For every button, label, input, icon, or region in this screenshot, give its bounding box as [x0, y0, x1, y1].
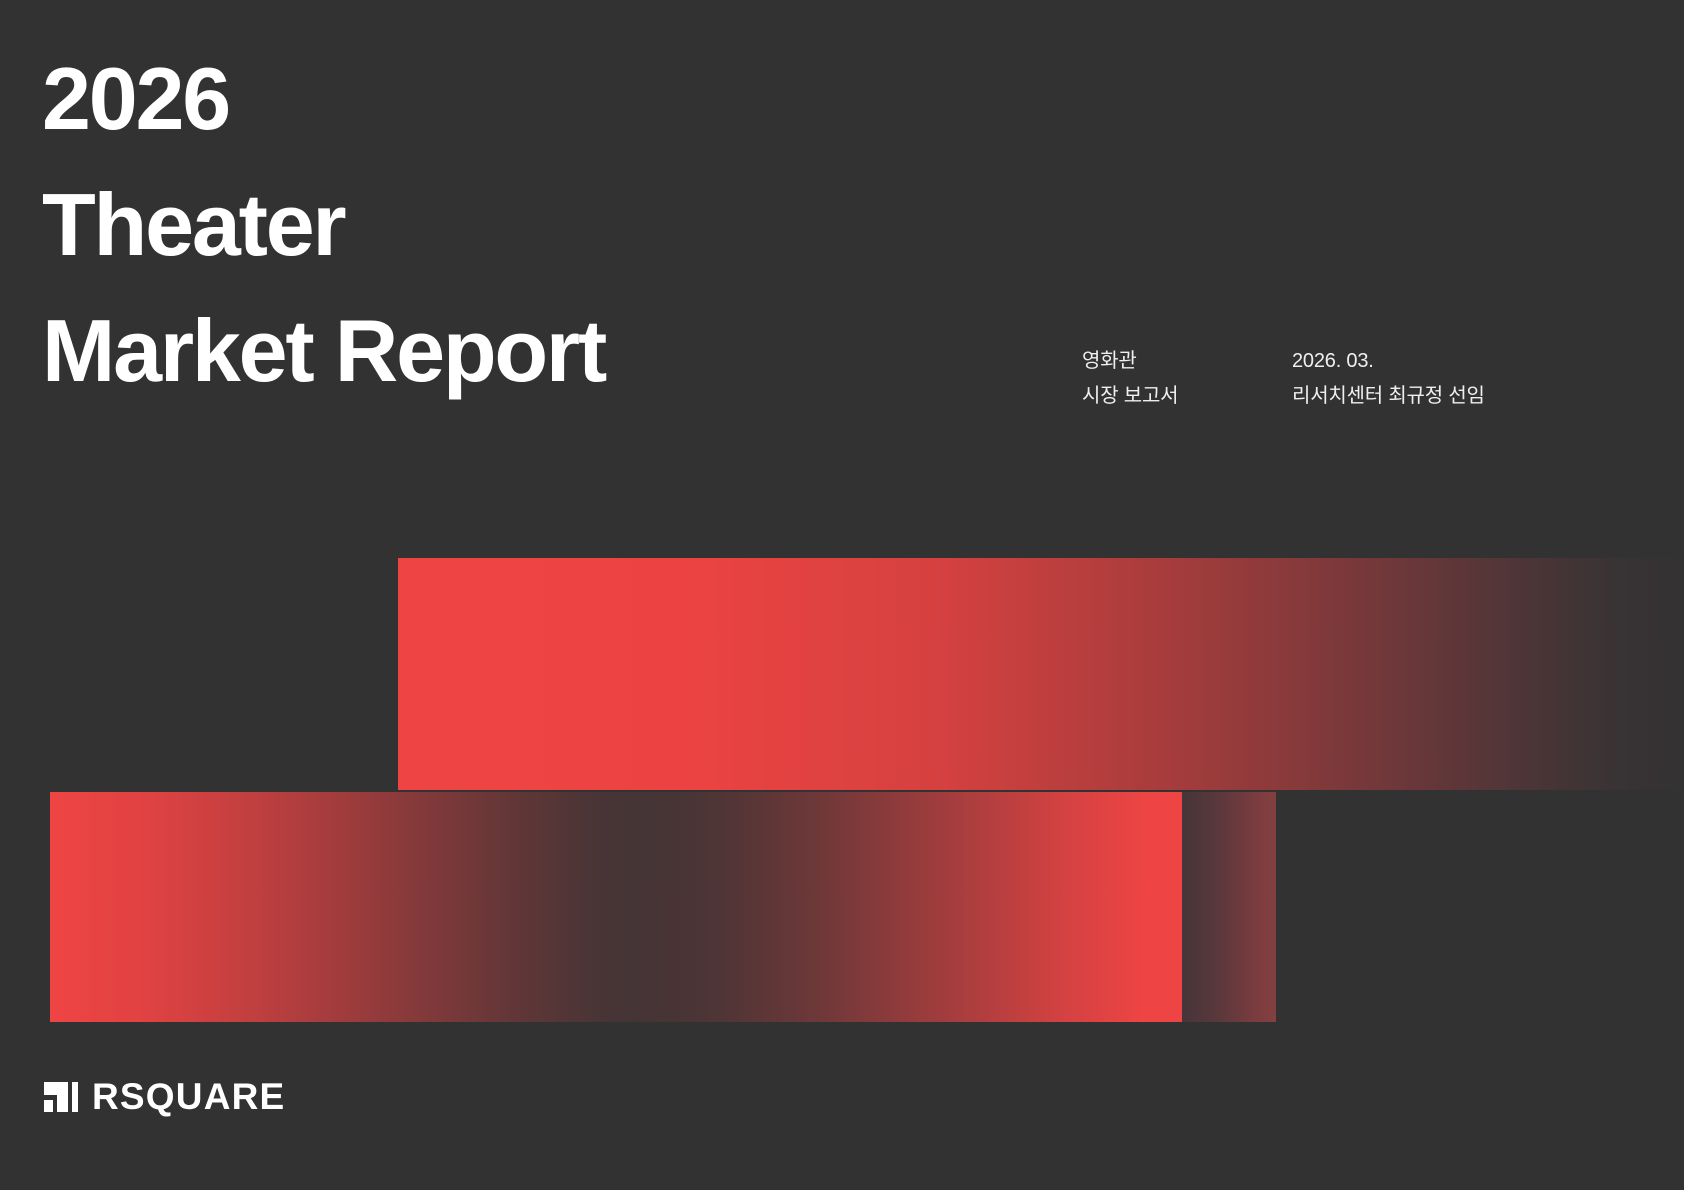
metadata-subject-line-1: 영화관	[1082, 344, 1292, 379]
title-line-theater: Theater	[42, 162, 1042, 288]
rsquare-square-mark-icon	[44, 1082, 78, 1112]
metadata-issue-date: 2026. 03.	[1292, 344, 1552, 379]
band-top	[398, 558, 1684, 790]
metadata-subject-line-2: 시장 보고서	[1082, 379, 1292, 414]
metadata-subject-column: 영화관 시장 보고서	[1082, 344, 1292, 414]
metadata-issue-column: 2026. 03. 리서치센터 최규정 선임	[1292, 344, 1552, 414]
title-line-year: 2026	[42, 36, 1042, 162]
band-bottom	[50, 792, 1276, 1022]
band-bottom-segment-right	[1182, 792, 1276, 1022]
metadata-issue-author: 리서치센터 최규정 선임	[1292, 379, 1552, 414]
band-bottom-segment-middle	[600, 792, 1182, 1022]
brand-logo: RSQUARE	[44, 1078, 285, 1115]
band-bottom-segment-left	[50, 792, 732, 1022]
page-title: 2026 Theater Market Report	[42, 36, 1042, 414]
report-cover-slide: 2026 Theater Market Report 영화관 시장 보고서 20…	[0, 0, 1684, 1190]
cover-metadata: 영화관 시장 보고서 2026. 03. 리서치센터 최규정 선임	[1082, 344, 1552, 414]
brand-wordmark: RSQUARE	[92, 1078, 285, 1115]
title-line-market-report: Market Report	[42, 288, 1042, 414]
